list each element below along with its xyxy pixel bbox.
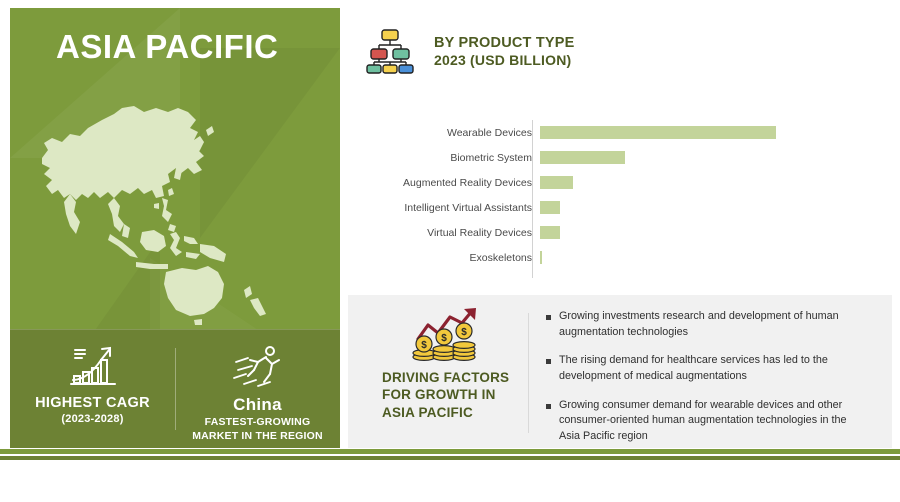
chart-row: Exoskeletons	[348, 245, 892, 270]
driving-factors-block: $ $ $ DRIVING FACTORS FOR GROWTH IN ASIA…	[370, 303, 520, 421]
money-growth-arrow-icon: $ $ $	[370, 303, 520, 365]
chart-row: Virtual Reality Devices	[348, 220, 892, 245]
list-item-text: Growing consumer demand for wearable dev…	[559, 398, 868, 445]
chart-subtitle: 2023 (USD BILLION)	[434, 52, 575, 70]
bar-label: Augmented Reality Devices	[348, 177, 540, 189]
bar-track	[540, 145, 892, 170]
driving-factors-panel: $ $ $ DRIVING FACTORS FOR GROWTH IN ASIA…	[348, 295, 892, 448]
bar-label: Wearable Devices	[348, 127, 540, 139]
stat-title: China	[175, 395, 340, 415]
product-type-bar-chart: Wearable Devices Biometric System Augmen…	[348, 120, 892, 278]
bar-biometric-system	[540, 151, 625, 164]
bar-label: Exoskeletons	[348, 252, 540, 264]
driving-factors-title: DRIVING FACTORS FOR GROWTH IN ASIA PACIF…	[370, 369, 520, 421]
list-item: The rising demand for healthcare service…	[546, 353, 868, 384]
stat-band: HIGHEST CAGR (2023-2028)	[10, 329, 340, 448]
bar-track	[540, 120, 892, 145]
bar-wearable-devices	[540, 126, 776, 139]
bar-virtual-reality-devices	[540, 226, 560, 239]
asia-pacific-map-icon	[18, 86, 334, 326]
svg-text:$: $	[421, 340, 427, 351]
bar-track	[540, 195, 892, 220]
running-person-icon	[175, 330, 340, 390]
bar-label: Virtual Reality Devices	[348, 227, 540, 239]
stat-highest-cagr: HIGHEST CAGR (2023-2028)	[10, 330, 175, 448]
stat-title: HIGHEST CAGR	[10, 395, 175, 411]
infographic-canvas: ASIA PACIFIC	[0, 0, 900, 502]
list-item-text: The rising demand for healthcare service…	[559, 353, 868, 384]
bar-chart-growth-icon	[10, 330, 175, 390]
stat-fastest-growing-country: China FASTEST-GROWING MARKET IN THE REGI…	[175, 330, 340, 448]
bullet-icon	[546, 359, 551, 364]
region-title: ASIA PACIFIC	[56, 28, 278, 66]
bar-label: Intelligent Virtual Assistants	[348, 202, 540, 214]
list-item: Growing consumer demand for wearable dev…	[546, 398, 868, 445]
chart-panel: BY PRODUCT TYPE 2023 (USD BILLION) Weara…	[348, 8, 892, 295]
stat-subtitle: FASTEST-GROWING	[175, 416, 340, 429]
bar-augmented-reality-devices	[540, 176, 573, 189]
chart-row: Intelligent Virtual Assistants	[348, 195, 892, 220]
svg-text:$: $	[441, 333, 447, 344]
bar-track	[540, 170, 892, 195]
bar-exoskeletons	[540, 251, 542, 264]
chart-row: Biometric System	[348, 145, 892, 170]
stat-subtitle-2: MARKET IN THE REGION	[175, 430, 340, 443]
bullet-icon	[546, 404, 551, 409]
list-item: Growing investments research and develop…	[546, 309, 868, 340]
bar-track	[540, 245, 892, 270]
region-panel: ASIA PACIFIC	[10, 8, 340, 448]
footer-strip-dark	[0, 456, 900, 460]
driving-factors-list: Growing investments research and develop…	[546, 309, 868, 457]
panel-divider	[528, 313, 529, 433]
chart-row: Augmented Reality Devices	[348, 170, 892, 195]
hierarchy-org-chart-icon	[366, 26, 414, 74]
chart-header: BY PRODUCT TYPE 2023 (USD BILLION)	[366, 26, 575, 74]
list-item-text: Growing investments research and develop…	[559, 309, 868, 340]
bullet-icon	[546, 315, 551, 320]
footer-strip-light	[0, 449, 900, 454]
chart-row: Wearable Devices	[348, 120, 892, 145]
bar-label: Biometric System	[348, 152, 540, 164]
bar-track	[540, 220, 892, 245]
chart-title: BY PRODUCT TYPE	[434, 34, 575, 52]
bar-intelligent-virtual-assistants	[540, 201, 560, 214]
svg-text:$: $	[461, 327, 467, 338]
stat-subtitle: (2023-2028)	[10, 413, 175, 425]
